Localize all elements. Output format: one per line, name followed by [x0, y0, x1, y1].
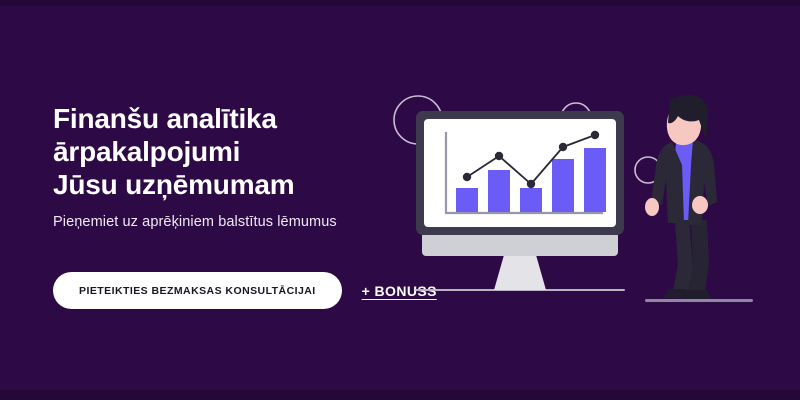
page-title: Finanšu analītika ārpakalpojumi Jūsu uzņ… [53, 102, 403, 201]
headline-line-2: ārpakalpojumi [53, 135, 403, 168]
copy-block: Finanšu analītika ārpakalpojumi Jūsu uzņ… [53, 102, 403, 230]
chart-point-marker [495, 152, 503, 160]
headline-line-3: Jūsu uzņēmumam [53, 168, 403, 201]
standing-person [645, 95, 753, 302]
monitor-chin [422, 232, 618, 256]
desktop-monitor [415, 111, 625, 291]
headline-line-1: Finanšu analītika [53, 102, 403, 135]
chart-bar [520, 188, 542, 212]
chart-bar [456, 188, 478, 212]
hero-banner: Finanšu analītika ārpakalpojumi Jūsu uzņ… [0, 0, 800, 400]
consultation-cta-button[interactable]: PIETEIKTIES BEZMAKSAS KONSULTĀCIJAI [53, 272, 342, 309]
person-front-shoe [683, 290, 711, 299]
chart-point-marker [591, 131, 599, 139]
person-hand-left [645, 198, 659, 216]
subtitle: Pieņemiet uz aprēķiniem balstītus lēmumu… [53, 214, 403, 230]
chart-point-marker [527, 180, 535, 188]
top-edge-strip [0, 0, 800, 6]
person-hand-right [692, 196, 708, 214]
chart-bar [488, 170, 510, 212]
chart-bar [584, 148, 606, 212]
bottom-edge-strip [0, 390, 800, 400]
hero-illustration [380, 80, 790, 330]
chart-point-marker [463, 173, 471, 181]
chart-bar [552, 159, 574, 212]
person-back-leg [672, 220, 693, 296]
person-ground-line [645, 299, 753, 302]
chart-point-marker [559, 143, 567, 151]
monitor-stand [494, 255, 546, 290]
